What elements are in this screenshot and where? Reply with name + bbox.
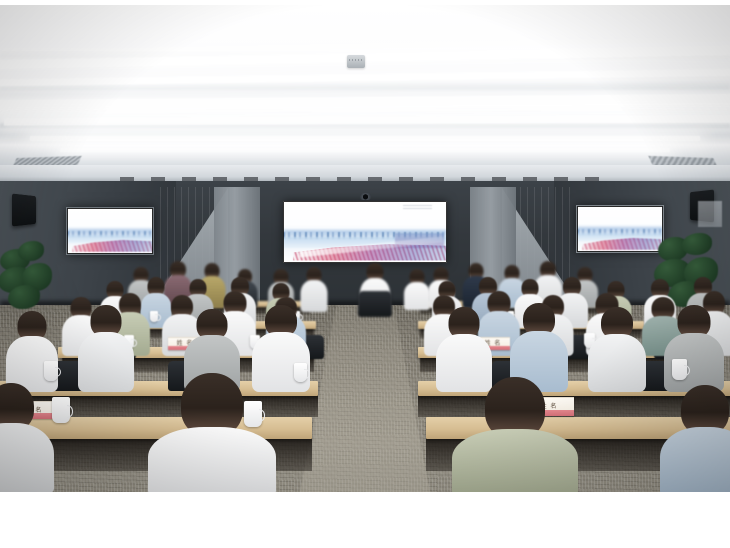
main-led-wall[interactable] — [283, 201, 447, 263]
attendee-foreground-edge-right — [660, 385, 730, 492]
teacup — [294, 363, 307, 382]
conference-camera-icon — [360, 193, 371, 200]
wall-speaker-left-icon — [12, 194, 36, 227]
teacup — [44, 361, 58, 381]
teacup — [672, 359, 687, 380]
conference-room-photo: 姓 名 姓 名 — [0, 5, 730, 492]
side-display-left[interactable] — [66, 207, 154, 255]
ceiling — [0, 5, 730, 180]
image-watermark — [403, 205, 433, 210]
ceiling-light-strip — [60, 148, 670, 152]
wall-sign — [698, 201, 722, 227]
letterbox-bottom — [0, 492, 730, 548]
attendee-foreground-right — [452, 377, 578, 492]
chair — [358, 291, 392, 317]
teacup — [52, 397, 70, 423]
letterbox-top — [0, 0, 730, 5]
attendee-foreground-left — [148, 373, 276, 492]
attendee-foreground-edge-left — [0, 383, 54, 492]
potted-plant-left — [0, 241, 60, 311]
smoke-detector-icon — [347, 55, 365, 68]
attendee — [78, 305, 134, 391]
teacup — [150, 311, 158, 322]
screenshot-root: 姓 名 姓 名 — [0, 0, 730, 548]
attendee — [588, 307, 646, 391]
cityscape-image — [577, 206, 663, 252]
cityscape-image — [67, 208, 153, 254]
ceiling-light-strip — [30, 136, 700, 141]
cityscape-image — [283, 201, 447, 263]
side-display-right[interactable] — [576, 205, 664, 253]
